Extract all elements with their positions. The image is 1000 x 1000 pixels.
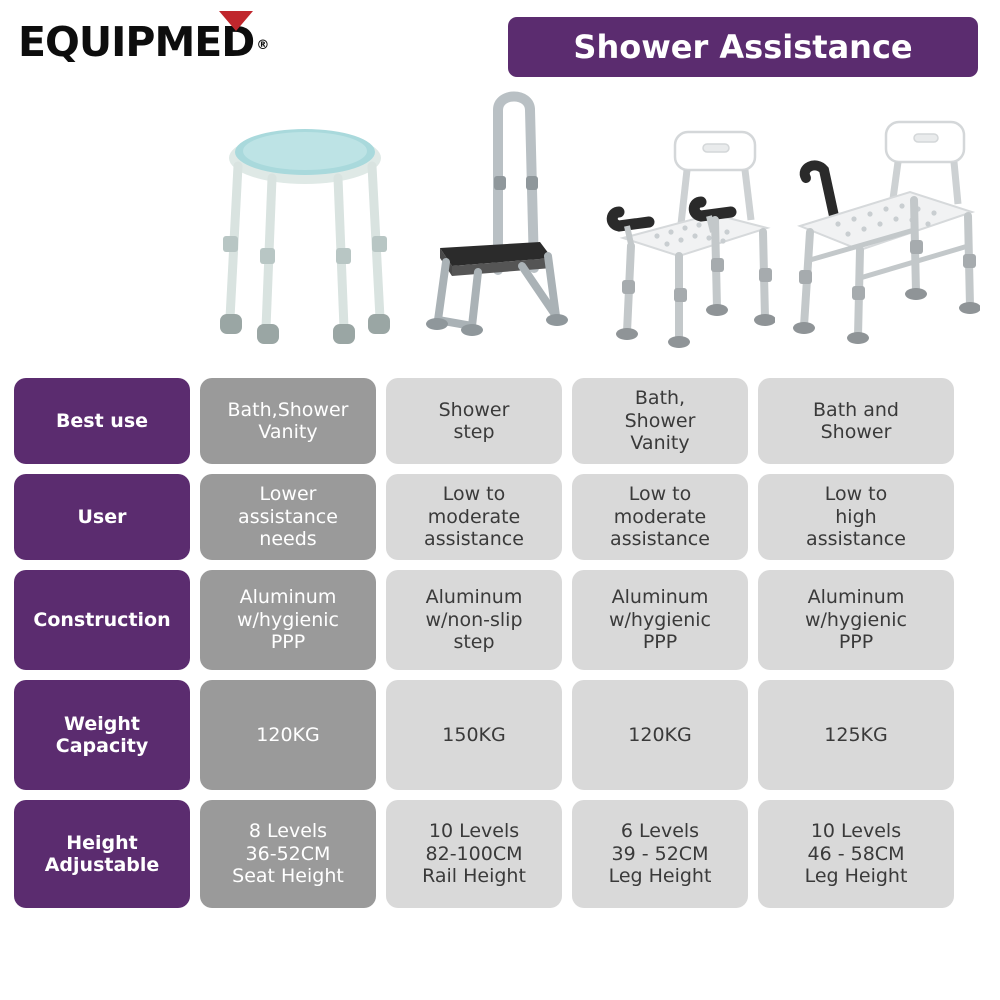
registered-trademark-icon: ®: [256, 38, 269, 53]
cell-user-product-3: Low tomoderateassistance: [572, 474, 748, 560]
product-image-band: [0, 80, 1000, 370]
shower-step-with-rail-image: [422, 80, 572, 370]
table-row: Construction Aluminumw/hygienicPPP Alumi…: [14, 570, 986, 670]
row-label-weight-capacity: WeightCapacity: [14, 680, 190, 790]
cell-best-use-product-1: Bath,ShowerVanity: [200, 378, 376, 464]
cell-best-use-product-2: Showerstep: [386, 378, 562, 464]
page-title-banner: Shower Assistance: [508, 17, 978, 77]
row-label-user: User: [14, 474, 190, 560]
comparison-table: Best use Bath,ShowerVanity Showerstep Ba…: [14, 378, 986, 908]
red-triangle-icon: [219, 11, 253, 31]
cell-construction-product-1: Aluminumw/hygienicPPP: [200, 570, 376, 670]
cell-weight-capacity-product-3: 120KG: [572, 680, 748, 790]
cell-user-product-4: Low tohighassistance: [758, 474, 954, 560]
shower-chair-with-arms-image: [605, 128, 775, 370]
table-row: User Lowerassistanceneeds Low tomoderate…: [14, 474, 986, 560]
cell-best-use-product-4: Bath andShower: [758, 378, 954, 464]
table-row: WeightCapacity 120KG 150KG 120KG 125KG: [14, 680, 986, 790]
cell-best-use-product-3: Bath,ShowerVanity: [572, 378, 748, 464]
cell-user-product-2: Low tomoderateassistance: [386, 474, 562, 560]
row-label-construction: Construction: [14, 570, 190, 670]
cell-height-adjustable-product-3: 6 Levels39 - 52CMLeg Height: [572, 800, 748, 908]
cell-weight-capacity-product-4: 125KG: [758, 680, 954, 790]
table-row: HeightAdjustable 8 Levels36-52CMSeat Hei…: [14, 800, 986, 908]
table-row: Best use Bath,ShowerVanity Showerstep Ba…: [14, 378, 986, 464]
adjustable-shower-stool-image: [210, 118, 400, 370]
cell-weight-capacity-product-2: 150KG: [386, 680, 562, 790]
cell-construction-product-3: Aluminumw/hygienicPPP: [572, 570, 748, 670]
cell-user-product-1: Lowerassistanceneeds: [200, 474, 376, 560]
cell-height-adjustable-product-4: 10 Levels46 - 58CMLeg Height: [758, 800, 954, 908]
cell-weight-capacity-product-1: 120KG: [200, 680, 376, 790]
row-label-height-adjustable: HeightAdjustable: [14, 800, 190, 908]
page-root: EQUIPMED ® Shower Assistance: [0, 0, 1000, 1000]
page-title: Shower Assistance: [573, 28, 912, 66]
cell-height-adjustable-product-2: 10 Levels82-100CMRail Height: [386, 800, 562, 908]
cell-construction-product-4: Aluminumw/hygienicPPP: [758, 570, 954, 670]
cell-height-adjustable-product-1: 8 Levels36-52CMSeat Height: [200, 800, 376, 908]
row-label-best-use: Best use: [14, 378, 190, 464]
cell-construction-product-2: Aluminumw/non-slipstep: [386, 570, 562, 670]
bath-transfer-bench-image: [790, 120, 980, 370]
